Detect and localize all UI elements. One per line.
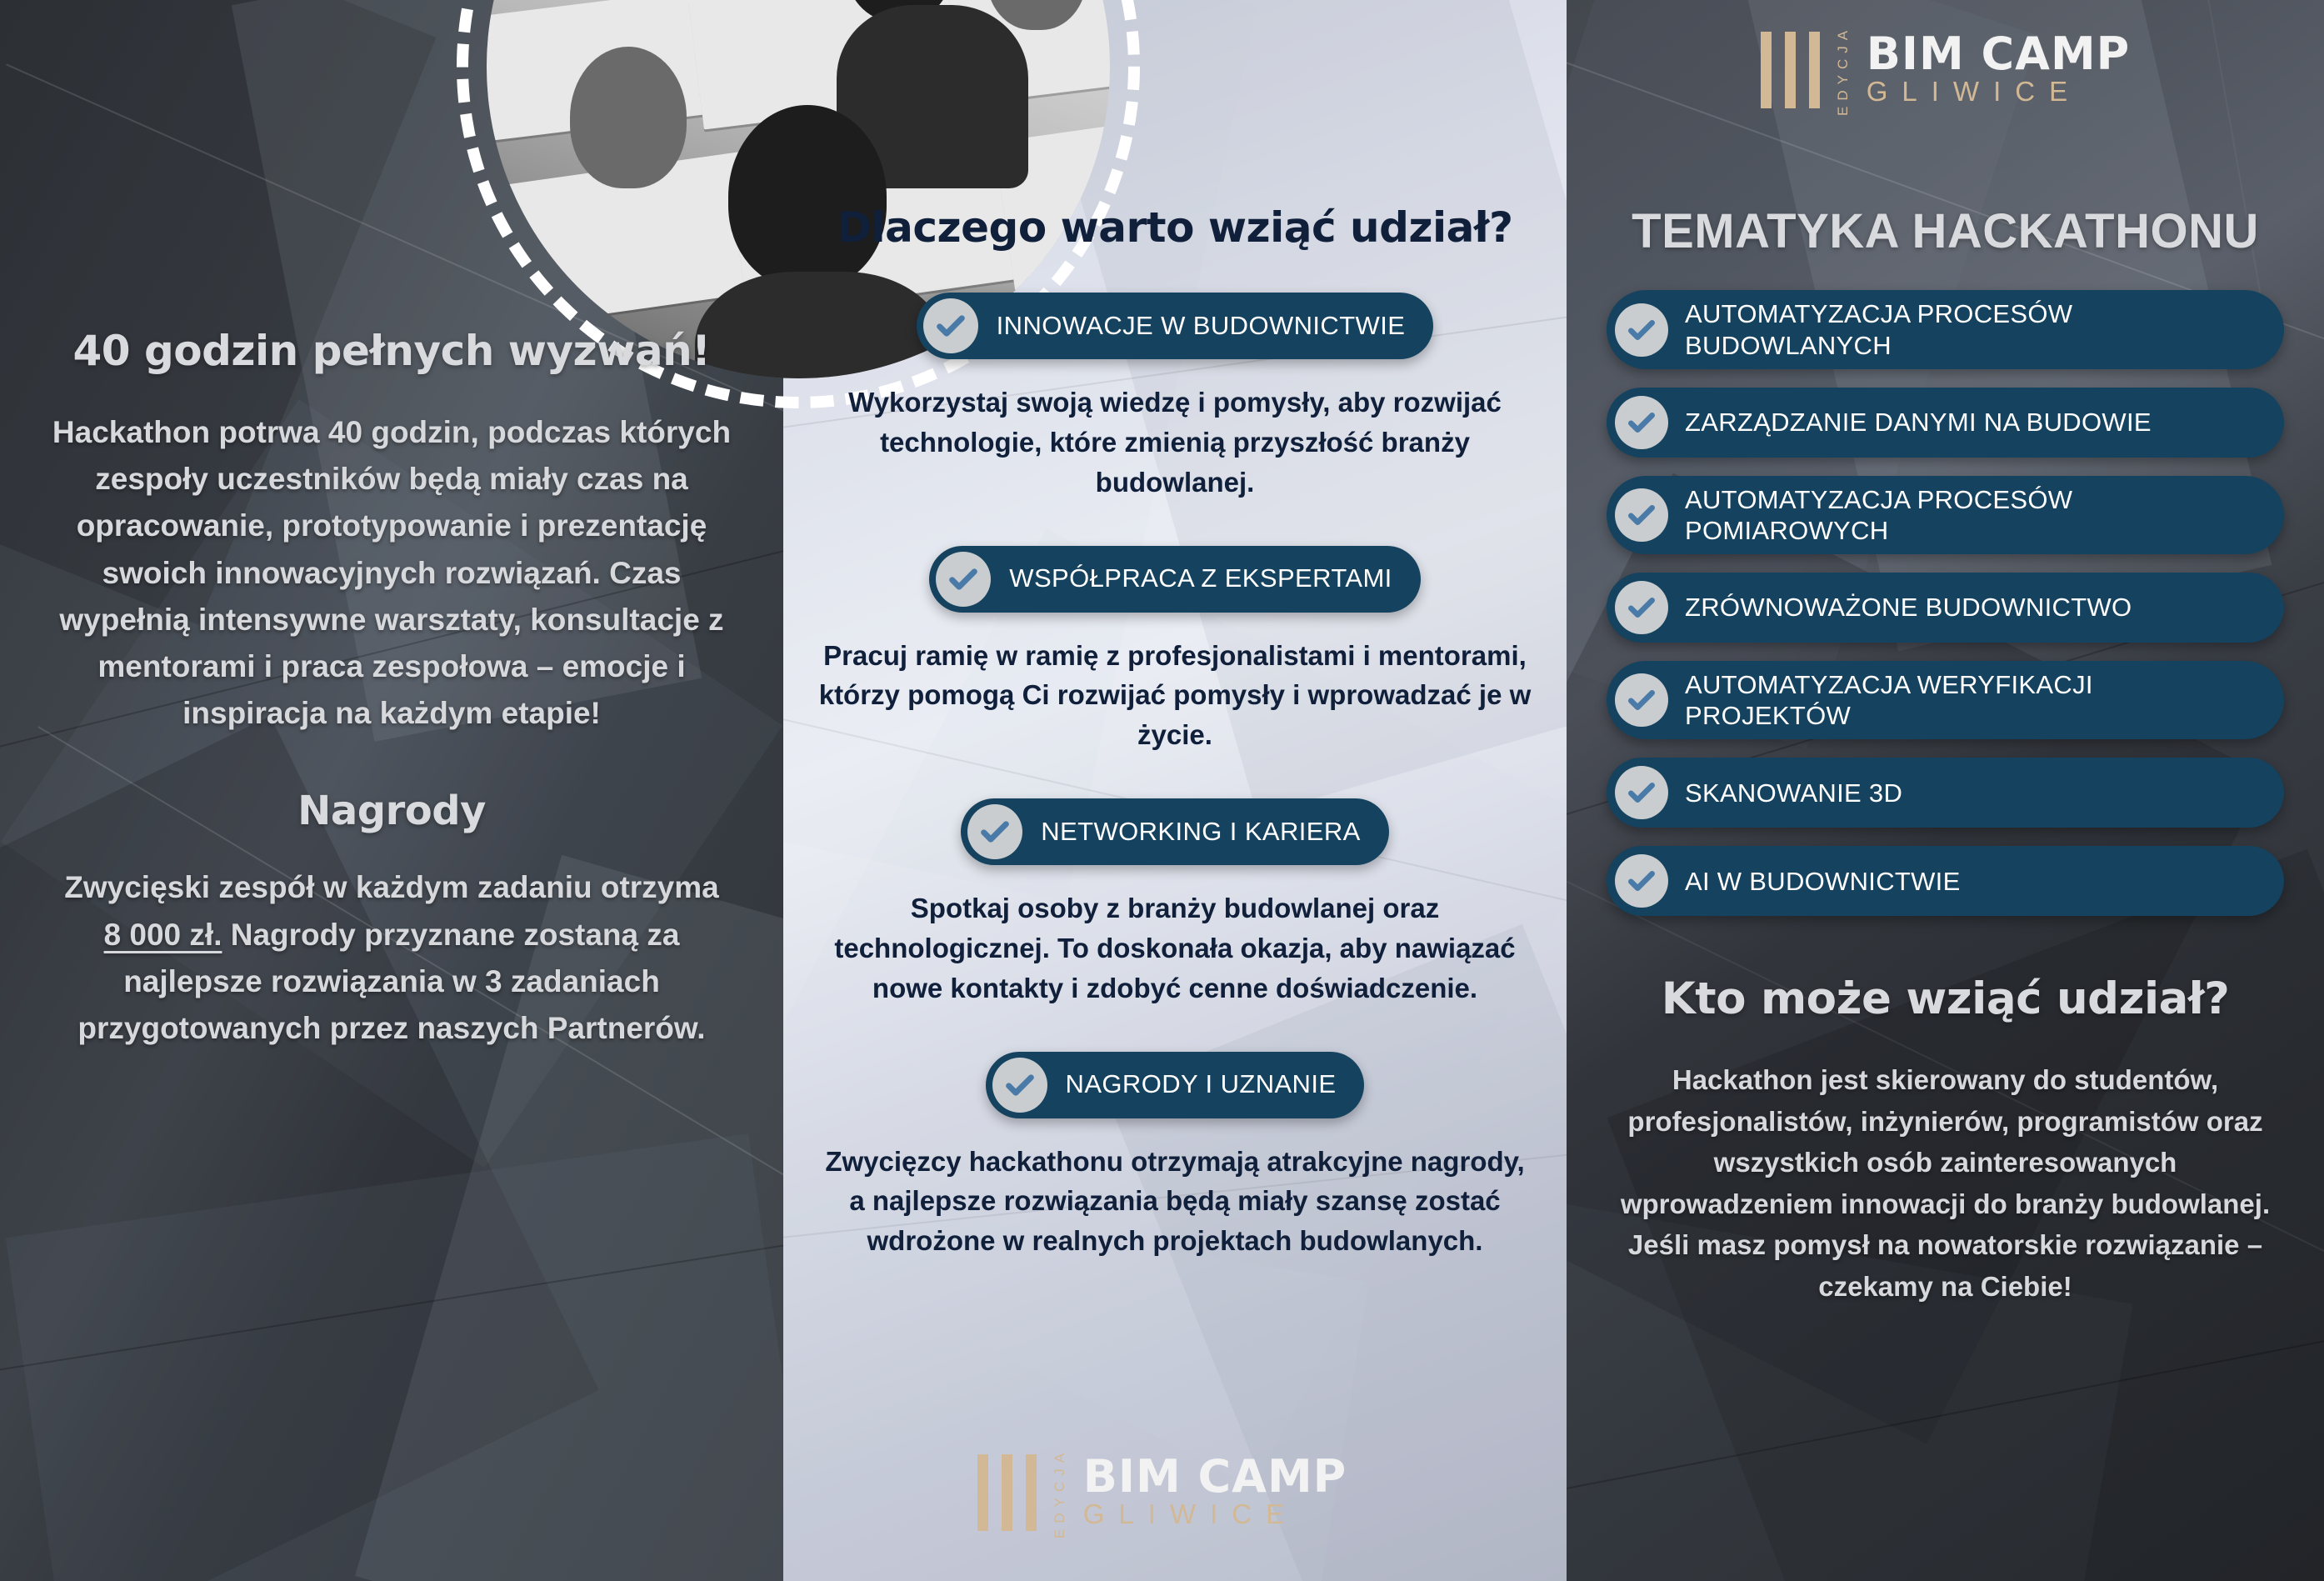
- check-circle-icon: [992, 1058, 1047, 1113]
- check-circle-icon: [1615, 766, 1668, 819]
- topic-item[interactable]: AUTOMATYZACJA PROCESÓW BUDOWLANYCH: [1607, 290, 2284, 368]
- topic-item[interactable]: ZRÓWNOWAŻONE BUDOWNICTWO: [1607, 573, 2284, 643]
- topic-label: AUTOMATYZACJA PROCESÓW POMIAROWYCH: [1685, 484, 2262, 546]
- feature-pill-networking[interactable]: NETWORKING I KARIERA: [961, 798, 1388, 865]
- right-audience-description: Hackathon jest skierowany do studentów, …: [1607, 1059, 2284, 1307]
- feature-text-innowacje: Wykorzystaj swoją wiedzę i pomysły, aby …: [818, 383, 1532, 503]
- three-bars-icon: [977, 1454, 1037, 1531]
- topic-item[interactable]: AUTOMATYZACJA WERYFIKACJI PROJEKTÓW: [1607, 661, 2284, 739]
- topic-item[interactable]: AI W BUDOWNICTWIE: [1607, 846, 2284, 916]
- logo-brand-name: BIM CAMP: [1867, 33, 2131, 77]
- logo-edition-label: EDYCJA: [1052, 1454, 1068, 1531]
- check-circle-icon: [1615, 673, 1668, 727]
- topic-item[interactable]: AUTOMATYZACJA PROCESÓW POMIAROWYCH: [1607, 476, 2284, 554]
- feature-pill-innowacje[interactable]: INNOWACJE W BUDOWNICTWIE: [917, 293, 1434, 359]
- right-audience-title: Kto może wziąć udział?: [1607, 976, 2284, 1023]
- poster-canvas: 40 godzin pełnych wyzwań! Hackathon potr…: [0, 0, 2324, 1581]
- feature-pill-label: NAGRODY I UZNANIE: [1066, 1069, 1337, 1100]
- topic-label: AUTOMATYZACJA WERYFIKACJI PROJEKTÓW: [1685, 669, 2262, 731]
- logo-city: GLIWICE: [1867, 76, 2131, 108]
- middle-title: Dlaczego warto wziąć udział?: [818, 207, 1532, 249]
- check-circle-icon: [1615, 488, 1668, 542]
- logo-edition-label: EDYCJA: [1835, 32, 1852, 108]
- check-circle-icon: [936, 552, 991, 607]
- middle-column: Dlaczego warto wziąć udział? INNOWACJE W…: [783, 0, 1567, 1581]
- check-circle-icon: [923, 298, 978, 353]
- feature-text-wspolpraca: Pracuj ramię w ramię z profesjonalistami…: [818, 636, 1532, 756]
- left-prizes-title: Nagrody: [52, 791, 732, 832]
- left-column: 40 godzin pełnych wyzwań! Hackathon potr…: [0, 0, 783, 1581]
- feature-pill-wspolpraca[interactable]: WSPÓŁPRACA Z EKSPERTAMI: [929, 546, 1420, 613]
- feature-text-networking: Spotkaj osoby z branży budowlanej oraz t…: [818, 888, 1532, 1008]
- left-prizes-description: Zwycięski zespół w każdym zadaniu otrzym…: [52, 864, 732, 1052]
- topic-label: AUTOMATYZACJA PROCESÓW BUDOWLANYCH: [1685, 298, 2262, 360]
- logo-brand-name: BIM CAMP: [1083, 1455, 1347, 1499]
- feature-pill-label: NETWORKING I KARIERA: [1041, 817, 1360, 848]
- topic-item[interactable]: ZARZĄDZANIE DANYMI NA BUDOWIE: [1607, 388, 2284, 458]
- right-column: TEMATYKA HACKATHONU AUTOMATYZACJA PROCES…: [1567, 0, 2324, 1581]
- check-circle-icon: [1615, 581, 1668, 634]
- logo-top-right: EDYCJA BIM CAMP GLIWICE: [1567, 32, 2324, 108]
- feature-pill-nagrody[interactable]: NAGRODY I UZNANIE: [986, 1052, 1365, 1118]
- prize-text-before: Zwycięski zespół w każdym zadaniu otrzym…: [64, 870, 719, 904]
- feature-pill-label: INNOWACJE W BUDOWNICTWIE: [997, 311, 1406, 342]
- prize-amount: 8 000 zł.: [104, 918, 222, 952]
- logo-city: GLIWICE: [1083, 1498, 1347, 1530]
- topic-label: ZRÓWNOWAŻONE BUDOWNICTWO: [1685, 592, 2132, 623]
- right-title: TEMATYKA HACKATHONU: [1607, 207, 2284, 257]
- check-circle-icon: [1615, 303, 1668, 357]
- topic-label: AI W BUDOWNICTWIE: [1685, 866, 1961, 897]
- feature-text-nagrody: Zwycięzcy hackathonu otrzymają atrakcyjn…: [818, 1142, 1532, 1262]
- left-title: 40 godzin pełnych wyzwań!: [52, 330, 732, 373]
- topic-list: AUTOMATYZACJA PROCESÓW BUDOWLANYCH ZARZĄ…: [1607, 290, 2284, 916]
- feature-pill-label: WSPÓŁPRACA Z EKSPERTAMI: [1009, 563, 1392, 594]
- topic-item[interactable]: SKANOWANIE 3D: [1607, 758, 2284, 828]
- check-circle-icon: [1615, 854, 1668, 908]
- check-circle-icon: [967, 804, 1022, 859]
- left-description: Hackathon potrwa 40 godzin, podczas któr…: [52, 409, 732, 738]
- logo-bottom-left: EDYCJA BIM CAMP GLIWICE: [0, 1454, 2324, 1531]
- topic-label: ZARZĄDZANIE DANYMI NA BUDOWIE: [1685, 407, 2152, 438]
- check-circle-icon: [1615, 396, 1668, 449]
- topic-label: SKANOWANIE 3D: [1685, 778, 1902, 808]
- three-bars-icon: [1761, 32, 1820, 108]
